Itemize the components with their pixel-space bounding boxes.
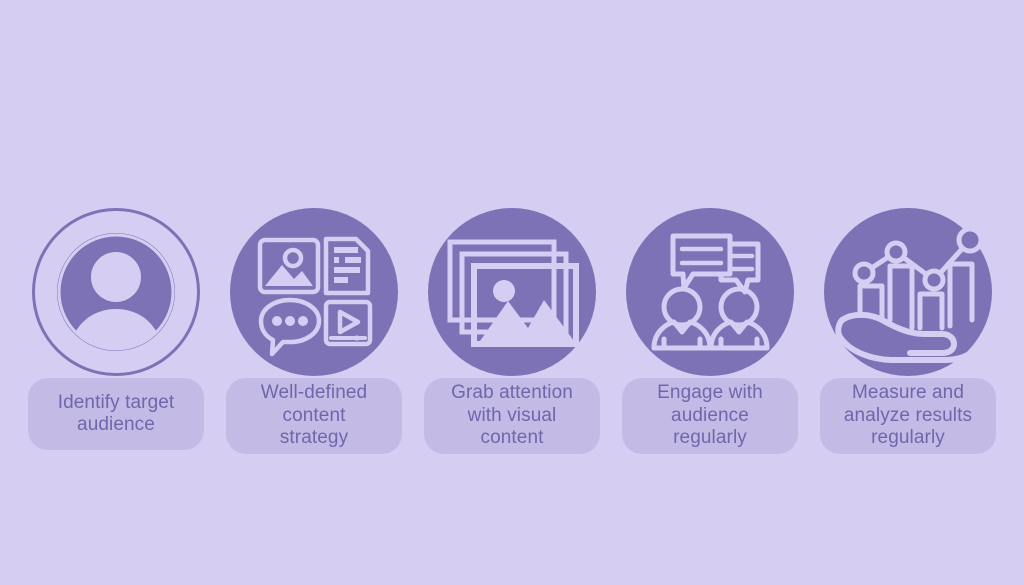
step-medallion: [626, 208, 794, 376]
people-chat-icon: [626, 208, 794, 376]
step-label-pill: Identify target audience: [28, 378, 204, 450]
infographic-board: Identify target audience: [0, 0, 1024, 585]
step-medallion: [230, 208, 398, 376]
step-measure-and-analyze-results-regularly[interactable]: Measure and analyze results regularly: [809, 208, 1007, 458]
step-medallion: [824, 208, 992, 376]
step-label: Identify target audience: [58, 392, 175, 437]
user-profile-circle-icon: [32, 208, 200, 376]
step-label-pill: Engage with audience regularly: [622, 378, 798, 454]
step-well-defined-content-strategy[interactable]: Well-defined content strategy: [215, 208, 413, 458]
steps-row: Identify target audience: [0, 208, 1024, 458]
step-medallion: [32, 208, 200, 376]
step-label: Measure and analyze results regularly: [844, 382, 972, 449]
chart-on-hand-icon: [824, 208, 992, 376]
step-label: Well-defined content strategy: [261, 382, 367, 449]
step-label: Grab attention with visual content: [451, 382, 573, 449]
step-label: Engage with audience regularly: [657, 382, 763, 449]
step-label-pill: Grab attention with visual content: [424, 378, 600, 454]
step-label-pill: Well-defined content strategy: [226, 378, 402, 454]
step-grab-attention-with-visual-content[interactable]: Grab attention with visual content: [413, 208, 611, 458]
step-medallion: [428, 208, 596, 376]
step-identify-target-audience[interactable]: Identify target audience: [17, 208, 215, 458]
stacked-photos-icon: [428, 208, 596, 376]
step-label-pill: Measure and analyze results regularly: [820, 378, 996, 454]
content-grid-icon: [230, 208, 398, 376]
step-engage-with-audience-regularly[interactable]: Engage with audience regularly: [611, 208, 809, 458]
